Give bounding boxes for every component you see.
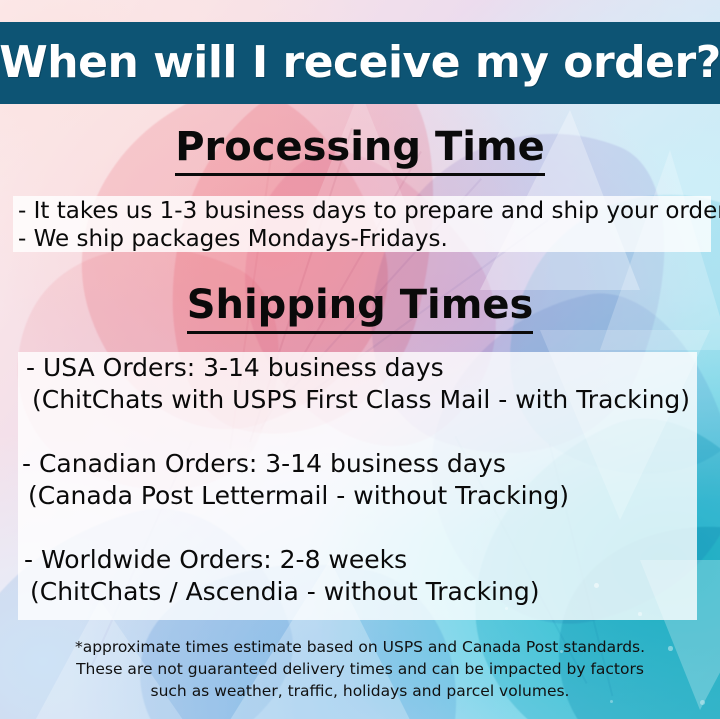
shipping-entry-worldwide-sub: (ChitChats / Ascendia - without Tracking…: [24, 576, 539, 608]
header-banner: When will I receive my order?: [0, 22, 720, 104]
shipping-entry-worldwide: - Worldwide Orders: 2-8 weeks (ChitChats…: [24, 544, 539, 608]
shipping-entry-usa-sub: (ChitChats with USPS First Class Mail - …: [26, 384, 690, 416]
footnote-line-2: These are not guaranteed delivery times …: [0, 658, 720, 680]
shipping-entry-canada: - Canadian Orders: 3-14 business days (C…: [22, 448, 569, 512]
shipping-times-heading: Shipping Times: [0, 284, 720, 326]
shipping-entry-worldwide-main: - Worldwide Orders: 2-8 weeks: [24, 544, 539, 576]
poster-canvas: When will I receive my order? Processing…: [0, 0, 720, 719]
footnote-disclaimer: *approximate times estimate based on USP…: [0, 636, 720, 702]
shipping-entry-canada-sub: (Canada Post Lettermail - without Tracki…: [22, 480, 569, 512]
shipping-entry-usa: - USA Orders: 3-14 business days (ChitCh…: [26, 352, 690, 416]
processing-time-line-1: - It takes us 1-3 business days to prepa…: [18, 198, 720, 225]
processing-time-line-2: - We ship packages Mondays-Fridays.: [18, 226, 448, 253]
footnote-line-1: *approximate times estimate based on USP…: [0, 636, 720, 658]
shipping-times-heading-text: Shipping Times: [187, 282, 534, 334]
shipping-entry-usa-main: - USA Orders: 3-14 business days: [26, 352, 690, 384]
shipping-entry-canada-main: - Canadian Orders: 3-14 business days: [22, 448, 569, 480]
footnote-line-3: such as weather, traffic, holidays and p…: [0, 680, 720, 702]
page-title: When will I receive my order?: [0, 41, 720, 85]
processing-time-heading: Processing Time: [0, 126, 720, 168]
processing-time-heading-text: Processing Time: [175, 124, 545, 176]
